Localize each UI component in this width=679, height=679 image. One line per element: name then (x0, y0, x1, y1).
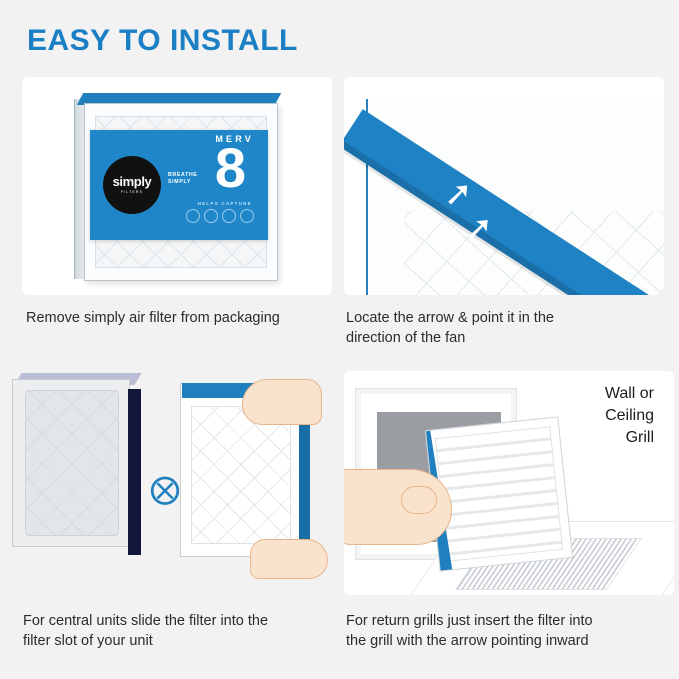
insert-left-arrow-icon: ⨂ (150, 475, 180, 505)
mold-icon (240, 209, 254, 223)
hand-upper-icon (242, 379, 322, 425)
brand-logo-text: simply (113, 176, 152, 188)
steps-grid: simply FILTERS BREATHE SIMPLY MERV 8 HEL… (0, 77, 679, 679)
filter-box-scene: simply FILTERS BREATHE SIMPLY MERV 8 HEL… (22, 77, 332, 295)
step-2: ➚ ➚ Locate the arrow & point it in the d… (344, 77, 664, 348)
merv-value: 8 (215, 140, 246, 196)
wall-ceiling-grill-note: Wall or Ceiling Grill (605, 383, 654, 449)
airflow-arrow-icon: ➚ (444, 177, 473, 211)
airflow-arrow-icon: ➚ (464, 212, 493, 246)
capture-icon-row (186, 209, 254, 223)
hand-icon (344, 469, 452, 545)
central-air-unit (12, 379, 142, 557)
pollen-icon (186, 209, 200, 223)
return-grill-scene: Wall or Ceiling Grill (344, 371, 674, 595)
helps-capture-label: HELPS CAPTURE (198, 201, 252, 206)
step-2-caption: Locate the arrow & point it in the direc… (346, 308, 664, 348)
dust-icon (204, 209, 218, 223)
product-box: simply FILTERS BREATHE SIMPLY MERV 8 HEL… (74, 93, 282, 279)
brand-logo: simply FILTERS (103, 156, 161, 214)
step-4-caption: For return grills just insert the filter… (346, 611, 674, 651)
airflow-arrow-scene: ➚ ➚ (344, 77, 664, 295)
step-3: ⨂ For central units slide the filter int… (0, 371, 332, 651)
step-3-illustration: ⨂ (0, 371, 332, 595)
box-label: simply FILTERS BREATHE SIMPLY MERV 8 HEL… (90, 130, 268, 240)
filter-panel-face (366, 99, 664, 295)
step-3-caption: For central units slide the filter into … (23, 611, 332, 651)
unit-grille-icon (25, 390, 119, 536)
step-4-illustration: Wall or Ceiling Grill (344, 371, 674, 595)
step-1-caption: Remove simply air filter from packaging (26, 308, 332, 328)
thumb-icon (401, 486, 437, 514)
pleated-media-icon (191, 406, 291, 544)
box-front-face: simply FILTERS BREATHE SIMPLY MERV 8 HEL… (84, 103, 278, 281)
brand-logo-subtext: FILTERS (121, 190, 143, 194)
easy-to-install-infographic: EASY TO INSTALL simply FILTERS (0, 0, 679, 679)
central-unit-scene: ⨂ (0, 371, 332, 595)
hand-lower-icon (250, 539, 328, 579)
step-1-illustration: simply FILTERS BREATHE SIMPLY MERV 8 HEL… (22, 77, 332, 295)
box-tagline: BREATHE SIMPLY (168, 172, 198, 186)
step-1: simply FILTERS BREATHE SIMPLY MERV 8 HEL… (22, 77, 332, 328)
page-title: EASY TO INSTALL (27, 24, 298, 58)
pet-dander-icon (222, 209, 236, 223)
step-2-illustration: ➚ ➚ (344, 77, 664, 295)
unit-front-face (12, 379, 130, 547)
filter-slot (128, 389, 141, 555)
step-4: Wall or Ceiling Grill For return grills … (344, 371, 674, 651)
